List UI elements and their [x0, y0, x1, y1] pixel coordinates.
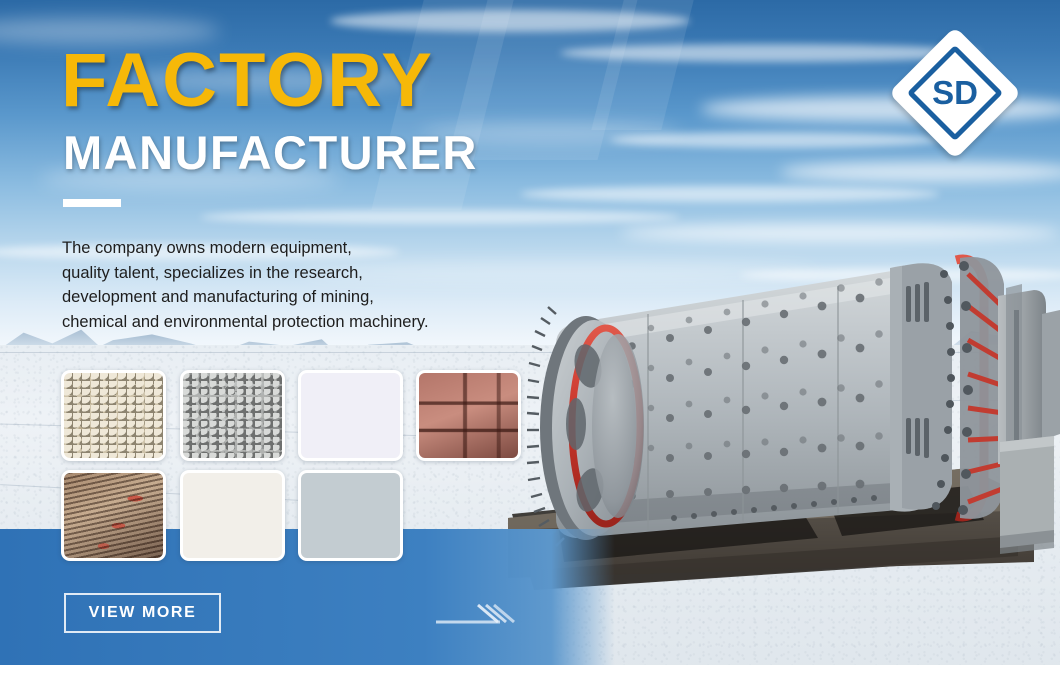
view-more-button[interactable]: VIEW MORE: [64, 593, 221, 633]
list-item[interactable]: [61, 470, 166, 561]
thumbnail-blue-gray-pebbles: [301, 473, 400, 558]
list-item[interactable]: [180, 470, 285, 561]
body-description: The company owns modern equipment, quali…: [62, 236, 532, 334]
cloud: [780, 162, 1060, 182]
page-title-secondary: MANUFACTURER: [63, 129, 478, 176]
list-item[interactable]: [298, 370, 403, 461]
company-logo[interactable]: SD: [908, 46, 1002, 140]
list-item[interactable]: [180, 370, 285, 461]
cloud: [520, 186, 940, 202]
bolted-flange-assembly: [890, 257, 1010, 519]
title-divider-rule: [63, 199, 121, 207]
promotional-banner: FACTORY MANUFACTURER The company owns mo…: [0, 0, 1060, 682]
list-item[interactable]: [298, 470, 403, 561]
page-title-primary: FACTORY: [61, 43, 434, 119]
bottom-white-strip: [0, 665, 1060, 682]
drive-motor-housing: [998, 284, 1060, 554]
girth-gear-ring: [527, 307, 644, 546]
thumbnail-gray-crushed-gravel: [183, 373, 282, 458]
thumbnail-white-lavender-stones: [301, 373, 400, 458]
list-item[interactable]: [61, 370, 166, 461]
thumbnail-red-brown-brick-blocks: [419, 373, 518, 458]
logo-text: SD: [908, 46, 1002, 140]
thumbnail-layered-wood-rock: [64, 473, 163, 558]
list-item[interactable]: [416, 370, 521, 461]
thumbnail-mixed-river-pebbles: [64, 373, 163, 458]
thumbnail-white-limestone: [183, 473, 282, 558]
chevron-arrow-ornament: [436, 595, 516, 631]
